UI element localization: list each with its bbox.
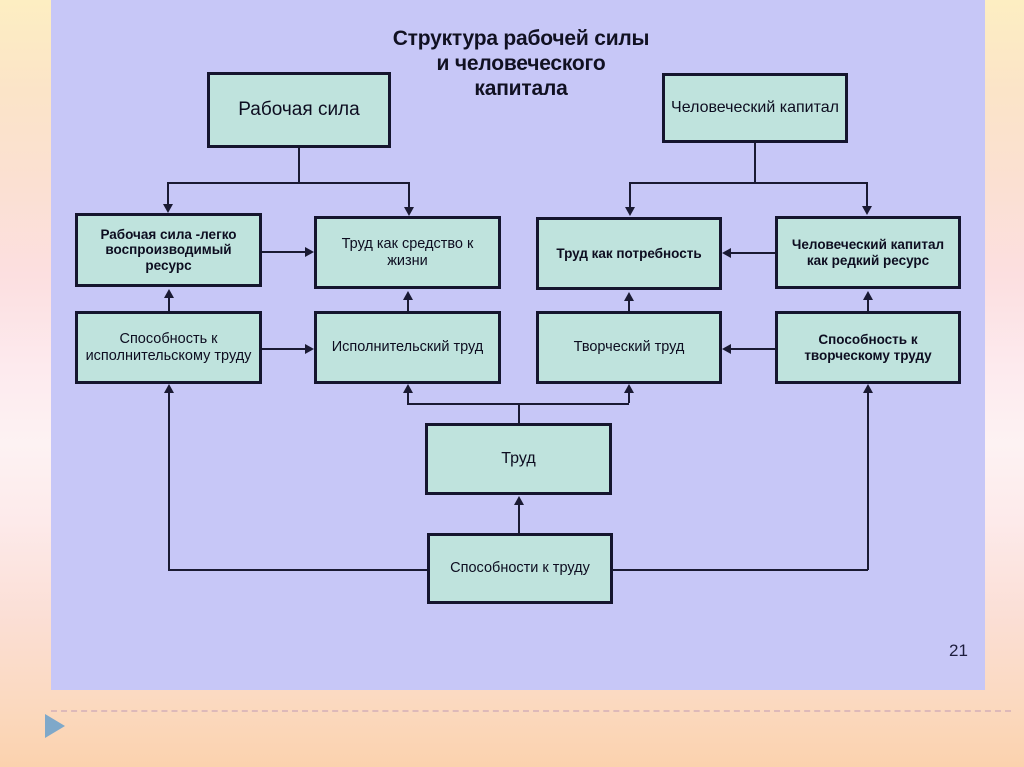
connector-labour-stem <box>518 403 520 423</box>
arrowhead-right-icon <box>305 247 314 257</box>
connector-scarce-to-need <box>731 252 775 254</box>
arrowhead-up-icon <box>624 292 634 301</box>
arrowhead-down-icon <box>862 206 872 215</box>
node-label: Исполнительский труд <box>332 339 484 356</box>
node-label: Человеческий капитал <box>671 99 839 118</box>
arrowhead-left-icon <box>722 344 731 354</box>
connector-ability-creative-up <box>867 300 869 311</box>
connector-ability-exec-up <box>168 298 170 311</box>
node-creative-labour[interactable]: Творческий труд <box>536 311 722 384</box>
connector-human-capital-bus <box>629 182 867 184</box>
arrowhead-up-icon <box>164 289 174 298</box>
node-label: Способность к исполнительскому труду <box>82 331 255 365</box>
connector-labour-force-left-drop <box>167 182 169 204</box>
connector-human-capital-left-drop <box>629 182 631 207</box>
arrowhead-left-icon <box>722 248 731 258</box>
connector-exec-labour-up <box>407 300 409 311</box>
node-label: Способности к труду <box>450 560 590 577</box>
node-ability-creative[interactable]: Способность к творческому труду <box>775 311 961 384</box>
connector-labour-right-rise <box>628 393 630 403</box>
arrowhead-down-icon <box>625 207 635 216</box>
connector-human-capital-stem <box>754 143 756 182</box>
connector-labour-force-right-drop <box>408 182 410 207</box>
node-labour-as-need[interactable]: Труд как потребность <box>536 217 722 290</box>
node-labour[interactable]: Труд <box>425 423 612 495</box>
arrowhead-up-icon <box>624 384 634 393</box>
node-label: Рабочая сила <box>238 99 359 121</box>
node-ability-executive[interactable]: Способность к исполнительскому труду <box>75 311 262 384</box>
slide-page: Структура рабочей силы и человеческого к… <box>0 0 1024 767</box>
connector-ability-creative-to-creative-labour <box>731 348 775 350</box>
node-labour-force-reproducible[interactable]: Рабочая сила -легко воспроизводимый ресу… <box>75 213 262 287</box>
node-human-capital[interactable]: Человеческий капитал <box>662 73 848 143</box>
node-label: Человеческий капитал как редкий ресурс <box>782 237 954 268</box>
node-label: Творческий труд <box>574 339 685 356</box>
node-label: Труд как средство к жизни <box>321 236 494 270</box>
slide-page-number: 21 <box>949 641 968 661</box>
connector-creative-labour-up <box>628 301 630 311</box>
connector-abilities-left-rise <box>168 393 170 570</box>
connector-abilities-right-rise <box>867 393 869 570</box>
node-abilities-to-labour[interactable]: Способности к труду <box>427 533 613 604</box>
page-title: Структура рабочей силы и человеческого к… <box>391 27 651 101</box>
node-label: Труд как потребность <box>556 246 701 262</box>
connector-human-capital-right-drop <box>866 182 868 206</box>
arrowhead-down-icon <box>404 207 414 216</box>
node-label: Способность к творческому труду <box>782 332 954 363</box>
notes-divider <box>51 710 1011 712</box>
connector-labour-force-stem <box>298 148 300 182</box>
arrowhead-up-icon <box>863 291 873 300</box>
arrowhead-up-icon <box>514 496 524 505</box>
arrowhead-up-icon <box>403 291 413 300</box>
arrowhead-right-icon <box>305 344 314 354</box>
arrowhead-up-icon <box>164 384 174 393</box>
node-labour-force[interactable]: Рабочая сила <box>207 72 391 148</box>
play-triangle-icon[interactable] <box>45 714 65 738</box>
arrowhead-down-icon <box>163 204 173 213</box>
connector-labour-force-bus <box>167 182 410 184</box>
connector-abilities-to-labour-rise <box>518 505 520 533</box>
arrowhead-up-icon <box>863 384 873 393</box>
connector-labour-bus <box>407 403 629 405</box>
connector-abilities-left-bus <box>168 569 427 571</box>
arrowhead-up-icon <box>403 384 413 393</box>
node-label: Рабочая сила -легко воспроизводимый ресу… <box>82 227 255 274</box>
slide-canvas: Структура рабочей силы и человеческого к… <box>51 0 985 690</box>
connector-reproducible-to-means <box>262 251 305 253</box>
node-human-capital-scarce[interactable]: Человеческий капитал как редкий ресурс <box>775 216 961 289</box>
connector-labour-left-rise <box>407 393 409 403</box>
connector-abilities-right-bus <box>612 569 868 571</box>
node-labour-as-means-of-life[interactable]: Труд как средство к жизни <box>314 216 501 289</box>
node-label: Труд <box>501 450 535 469</box>
node-executive-labour[interactable]: Исполнительский труд <box>314 311 501 384</box>
connector-ability-exec-to-exec-labour <box>262 348 305 350</box>
